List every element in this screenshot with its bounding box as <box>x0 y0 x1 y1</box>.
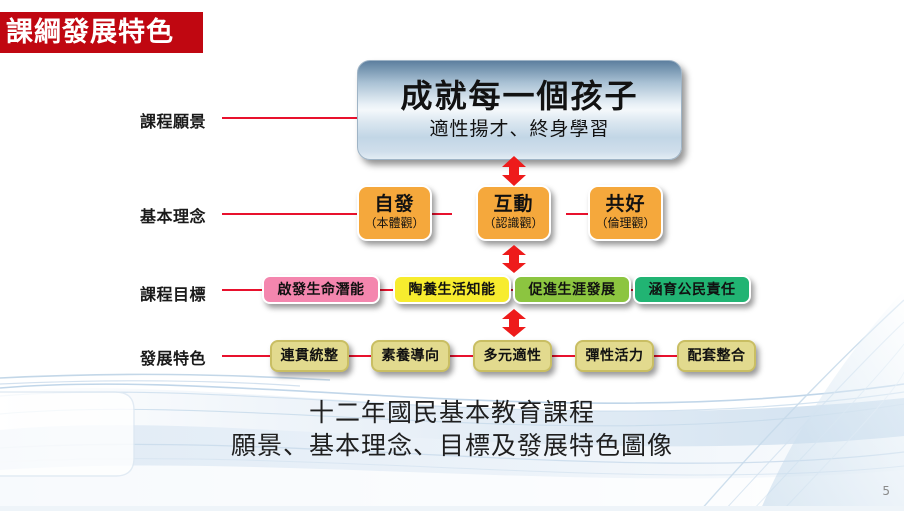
feature-box-3[interactable]: 多元適性 <box>473 340 552 372</box>
connector-line-vision <box>222 117 360 119</box>
feature-box-4-label: 彈性活力 <box>586 349 644 363</box>
page-number: 5 <box>882 484 890 498</box>
goal-box-3[interactable]: 促進生涯發展 <box>513 275 631 304</box>
row-label-goal: 課程目標 <box>140 281 206 305</box>
feature-box-2[interactable]: 素養導向 <box>371 340 450 372</box>
concept-box-2-main: 互動 <box>493 195 533 215</box>
concept-box-2[interactable]: 互動 （認識觀） <box>476 185 551 241</box>
feature-box-2-label: 素養導向 <box>382 349 440 363</box>
connector-line-feature <box>222 355 270 357</box>
concept-box-2-sub: （認識觀） <box>483 217 543 230</box>
vision-main-text: 成就每一個孩子 <box>400 79 638 114</box>
connector-line-goal <box>222 289 262 291</box>
row-label-feature: 發展特色 <box>140 345 206 369</box>
goal-box-2[interactable]: 陶養生活知能 <box>393 275 511 304</box>
connector-concept-1-2 <box>430 213 452 215</box>
concept-box-1[interactable]: 自發 （本體觀） <box>357 185 432 241</box>
arrow-concept-goal <box>501 245 527 273</box>
feature-box-1-label: 連貫統整 <box>281 349 339 363</box>
connector-feature-2-3 <box>450 355 474 357</box>
connector-line-concept <box>222 213 362 215</box>
vision-sub-text: 適性揚才、終身學習 <box>429 118 609 141</box>
vision-box[interactable]: 成就每一個孩子 適性揚才、終身學習 <box>357 60 682 160</box>
goal-box-4-label: 涵育公民責任 <box>649 283 736 297</box>
feature-box-3-label: 多元適性 <box>484 349 542 363</box>
row-label-vision: 課程願景 <box>140 108 206 132</box>
feature-box-1[interactable]: 連貫統整 <box>270 340 349 372</box>
feature-box-4[interactable]: 彈性活力 <box>575 340 654 372</box>
arrow-goal-feature <box>501 309 527 337</box>
goal-box-1[interactable]: 啟發生命潛能 <box>262 275 380 304</box>
slide-canvas: 課綱發展特色 課程願景 基本理念 課程目標 發展特色 成就每一個孩子 適性揚才、… <box>0 0 904 511</box>
concept-box-1-main: 自發 <box>374 195 414 215</box>
connector-feature-1-2 <box>348 355 372 357</box>
connector-feature-3-4 <box>552 355 576 357</box>
connector-goal-1-2 <box>378 289 394 291</box>
arrow-vision-concept <box>501 156 527 186</box>
concept-box-3[interactable]: 共好 （倫理觀） <box>588 185 663 241</box>
feature-box-5[interactable]: 配套整合 <box>677 340 756 372</box>
goal-box-1-label: 啟發生命潛能 <box>278 283 365 297</box>
connector-concept-2-3 <box>566 213 588 215</box>
slide-title-text: 課綱發展特色 <box>0 19 174 46</box>
row-label-concept: 基本理念 <box>140 203 206 227</box>
concept-box-3-main: 共好 <box>605 195 645 215</box>
goal-box-3-label: 促進生涯發展 <box>529 283 616 297</box>
connector-feature-4-5 <box>654 355 678 357</box>
caption-line-2: 願景、基本理念、目標及發展特色圖像 <box>0 429 904 462</box>
concept-box-1-sub: （本體觀） <box>364 217 424 230</box>
goal-box-4[interactable]: 涵育公民責任 <box>633 275 751 304</box>
feature-box-5-label: 配套整合 <box>688 349 746 363</box>
slide-title-banner: 課綱發展特色 <box>0 12 203 53</box>
diagram-caption: 十二年國民基本教育課程 願景、基本理念、目標及發展特色圖像 <box>0 396 904 462</box>
goal-box-2-label: 陶養生活知能 <box>409 283 496 297</box>
concept-box-3-sub: （倫理觀） <box>595 217 655 230</box>
caption-line-1: 十二年國民基本教育課程 <box>0 396 904 429</box>
